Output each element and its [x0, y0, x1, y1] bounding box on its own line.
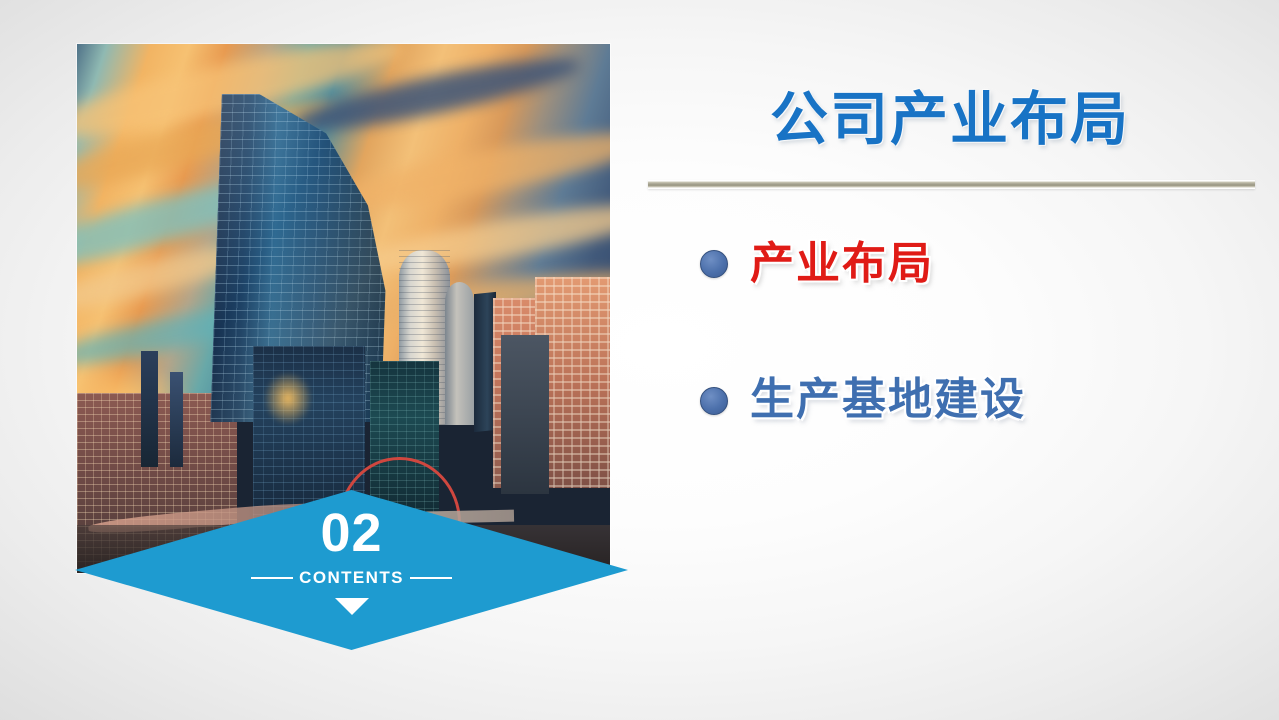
- bullet-dot-icon: [700, 387, 728, 415]
- page-title: 公司产业布局: [645, 72, 1255, 156]
- distant-spire: [141, 351, 158, 467]
- contents-label-row: CONTENTS: [251, 568, 452, 588]
- bullet-dot-icon: [700, 250, 728, 278]
- round-tower-secondary: [445, 282, 474, 425]
- distant-spire: [170, 372, 183, 467]
- list-item[interactable]: 产业布局: [700, 240, 1240, 288]
- title-divider: [648, 180, 1255, 189]
- bullet-label-production-base: 生产基地建设: [750, 376, 1026, 424]
- section-badge-content: 02 CONTENTS: [75, 490, 628, 650]
- bullet-list: 产业布局 生产基地建设: [700, 240, 1240, 425]
- rule-left: [251, 577, 293, 579]
- triangle-down-icon: [335, 598, 369, 615]
- lit-window-glow: [264, 372, 312, 425]
- dark-office-block: [501, 335, 549, 494]
- rule-right: [410, 577, 452, 579]
- section-number: 02: [320, 506, 382, 560]
- list-item[interactable]: 生产基地建设: [700, 376, 1240, 424]
- presentation-slide: 02 CONTENTS 公司产业布局 产业布局 生产基地建设: [0, 0, 1279, 720]
- bullet-label-industry-layout: 产业布局: [750, 240, 934, 288]
- contents-label: CONTENTS: [299, 568, 404, 588]
